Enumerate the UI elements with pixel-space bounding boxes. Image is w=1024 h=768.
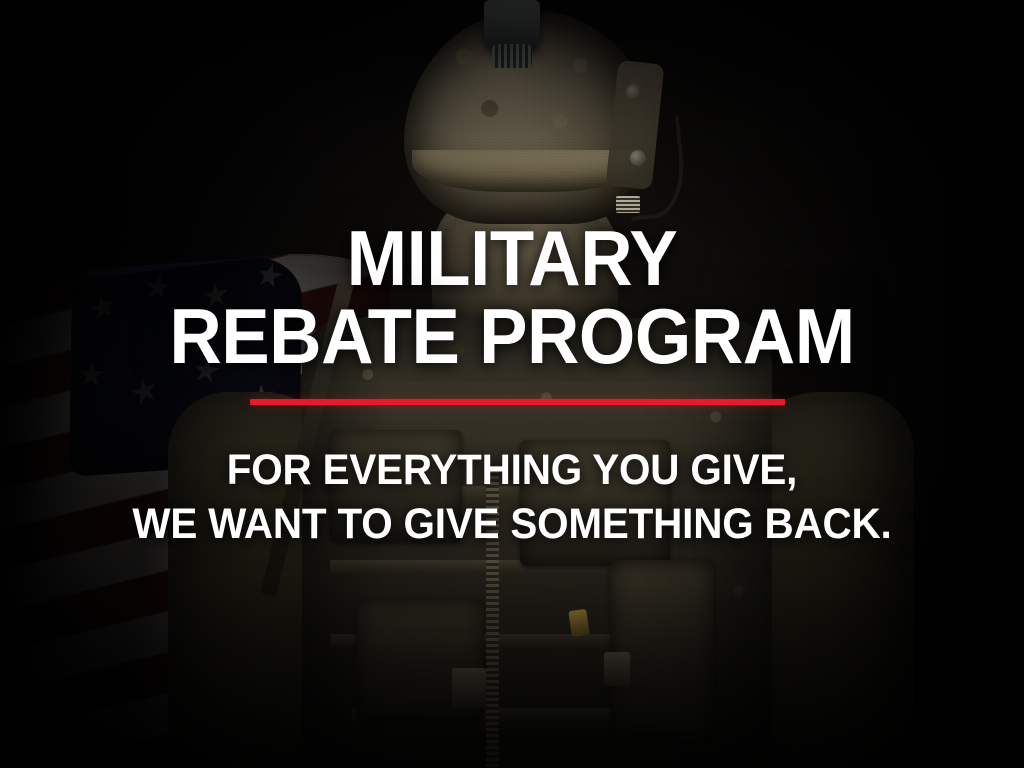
gear-pouch <box>610 560 714 740</box>
night-vision-knob <box>492 44 532 68</box>
poster-canvas: MILITARY REBATE PROGRAM FOR EVERYTHING Y… <box>0 0 1024 768</box>
gear-pouch <box>520 440 670 566</box>
gear-pouch <box>330 430 462 542</box>
vest-zipper <box>486 470 499 768</box>
background-photograph <box>0 0 1024 768</box>
vest-buckle <box>604 652 630 686</box>
soldier-figure <box>0 0 1024 768</box>
vest-buckle <box>452 668 486 708</box>
helmet-rail-bolt <box>626 84 642 100</box>
helmet-id-label <box>616 196 640 213</box>
yellow-pull-tab <box>568 609 589 637</box>
